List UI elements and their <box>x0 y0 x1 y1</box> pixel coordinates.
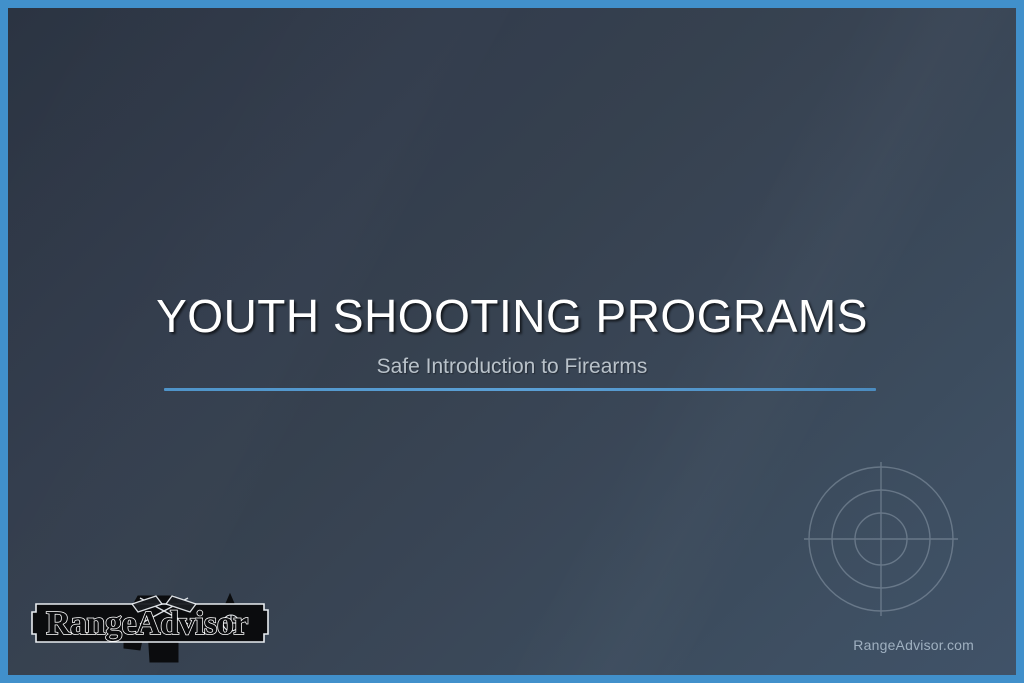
footer-url: RangeAdvisor.com <box>853 637 974 653</box>
accent-divider <box>164 388 876 391</box>
title-block: YOUTH SHOOTING PROGRAMS Safe Introductio… <box>8 292 1016 379</box>
page-subtitle: Safe Introduction to Firearms <box>8 354 1016 379</box>
title-slide: YOUTH SHOOTING PROGRAMS Safe Introductio… <box>0 0 1024 683</box>
brand-logo: RangeAdvisor <box>28 574 272 666</box>
logo-wordmark: RangeAdvisor <box>46 605 248 642</box>
page-title: YOUTH SHOOTING PROGRAMS <box>8 292 1016 342</box>
